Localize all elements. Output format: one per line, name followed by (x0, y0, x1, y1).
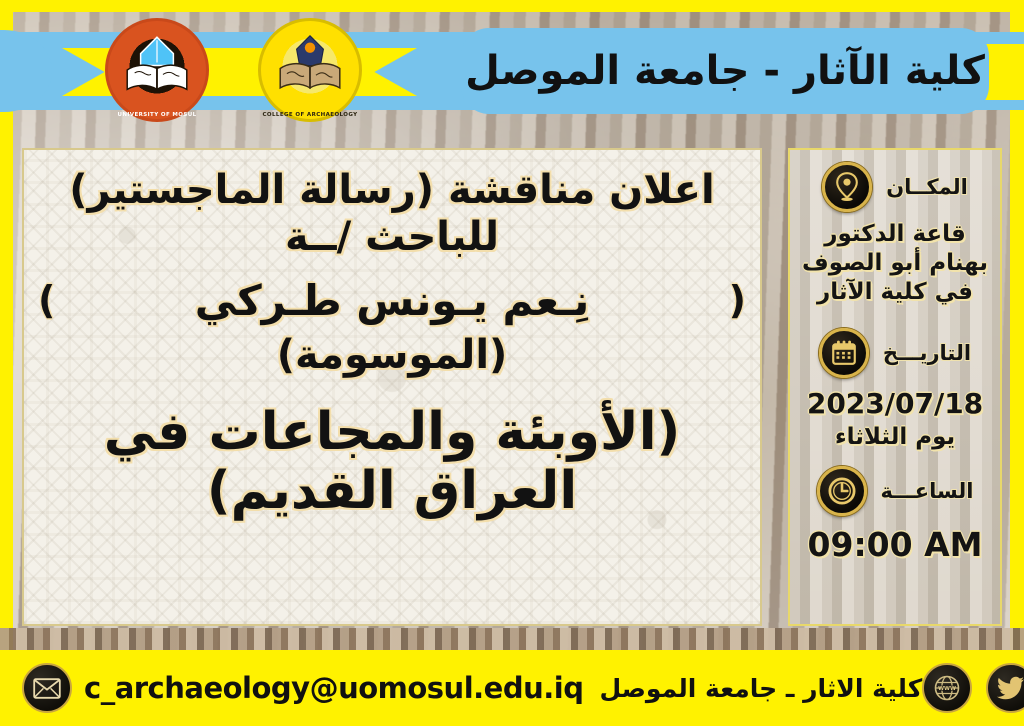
announcement-panel: اعلان مناقشة (رسالة الماجستير) للباحث /ـ… (22, 148, 762, 626)
date-value: 2023/07/18 (801, 386, 989, 421)
sidebar-time-block: الساعـــة 09:00 AM (790, 466, 1000, 565)
contact-email[interactable]: c_archaeology@uomosul.edu.iq (84, 671, 583, 705)
twitter-bird-glyph (997, 676, 1024, 700)
poster-header: UNIVERSITY OF MOSUL COLLEGE OF ARCHAEOLO… (0, 0, 1024, 140)
place-header: المكــان (790, 162, 1000, 212)
globe-glyph: WWW (932, 673, 962, 703)
logo-inner-mosul (120, 33, 194, 107)
time-label: الساعـــة (881, 479, 974, 503)
mosul-logo-art (120, 33, 194, 107)
place-value-line-2: بهنام أبو الصوف (802, 249, 988, 278)
location-pin-icon (822, 162, 872, 212)
archaeology-logo-ring-text: COLLEGE OF ARCHAEOLOGY (261, 112, 359, 118)
marked-line: (الموسومة) (24, 333, 760, 378)
footer-texture-strip (0, 628, 1024, 650)
header-title-banner: كلية الآثار - جامعة الموصل (461, 28, 989, 114)
clock-glyph (827, 476, 857, 506)
date-header: التاريـــخ (790, 328, 1000, 378)
sidebar-place-block: المكــان قاعة الدكتور بهنام أبو الصوف في… (790, 162, 1000, 306)
poster-root: UNIVERSITY OF MOSUL COLLEGE OF ARCHAEOLO… (0, 0, 1024, 726)
details-sidebar: المكــان قاعة الدكتور بهنام أبو الصوف في… (788, 148, 1002, 626)
date-label: التاريـــخ (883, 341, 971, 365)
college-of-archaeology-logo: COLLEGE OF ARCHAEOLOGY (258, 18, 362, 122)
researcher-name: نِـعم يـونس طـركي (55, 276, 728, 325)
calendar-icon (819, 328, 869, 378)
sidebar-date-block: التاريـــخ 2023/07/18 (790, 328, 1000, 452)
calendar-glyph (830, 339, 858, 367)
time-value: 09:00 AM (802, 524, 989, 565)
archaeology-logo-art (273, 33, 347, 107)
svg-text:WWW: WWW (938, 686, 956, 692)
university-of-mosul-logo: UNIVERSITY OF MOSUL (105, 18, 209, 122)
location-pin-glyph (833, 172, 861, 202)
announcement-line: اعلان مناقشة (رسالة الماجستير) (24, 168, 760, 213)
website-icon[interactable]: WWW (922, 663, 972, 713)
envelope-glyph (33, 678, 61, 699)
time-header: الساعـــة (790, 466, 1000, 516)
mosul-logo-ring-text: UNIVERSITY OF MOSUL (108, 112, 206, 118)
place-value-line-1: قاعة الدكتور (802, 220, 988, 249)
place-label: المكــان (886, 175, 968, 199)
twitter-icon[interactable] (986, 663, 1024, 713)
page-title: كلية الآثار - جامعة الموصل (465, 48, 985, 94)
paren-close: ) (38, 278, 55, 322)
envelope-icon[interactable] (22, 663, 72, 713)
logo-inner-archaeology (273, 33, 347, 107)
researcher-label-line: للباحث /ــة (24, 215, 760, 260)
thesis-title: (الأوبئة والمجاعات في العراق القديم) (24, 403, 760, 519)
date-day: يوم الثلاثاء (829, 423, 961, 452)
footer-college-name: كلية الاثار ـ جامعة الموصل (599, 674, 922, 703)
place-value: قاعة الدكتور بهنام أبو الصوف في كلية الآ… (796, 220, 994, 306)
social-links: WWW f (922, 663, 1024, 713)
paren-open: ( (729, 278, 746, 322)
poster-footer: c_archaeology@uomosul.edu.iq كلية الاثار… (0, 650, 1024, 726)
place-value-line-3: في كلية الآثار (802, 278, 988, 307)
researcher-name-row: ( نِـعم يـونس طـركي ) (24, 276, 760, 325)
clock-icon (817, 466, 867, 516)
